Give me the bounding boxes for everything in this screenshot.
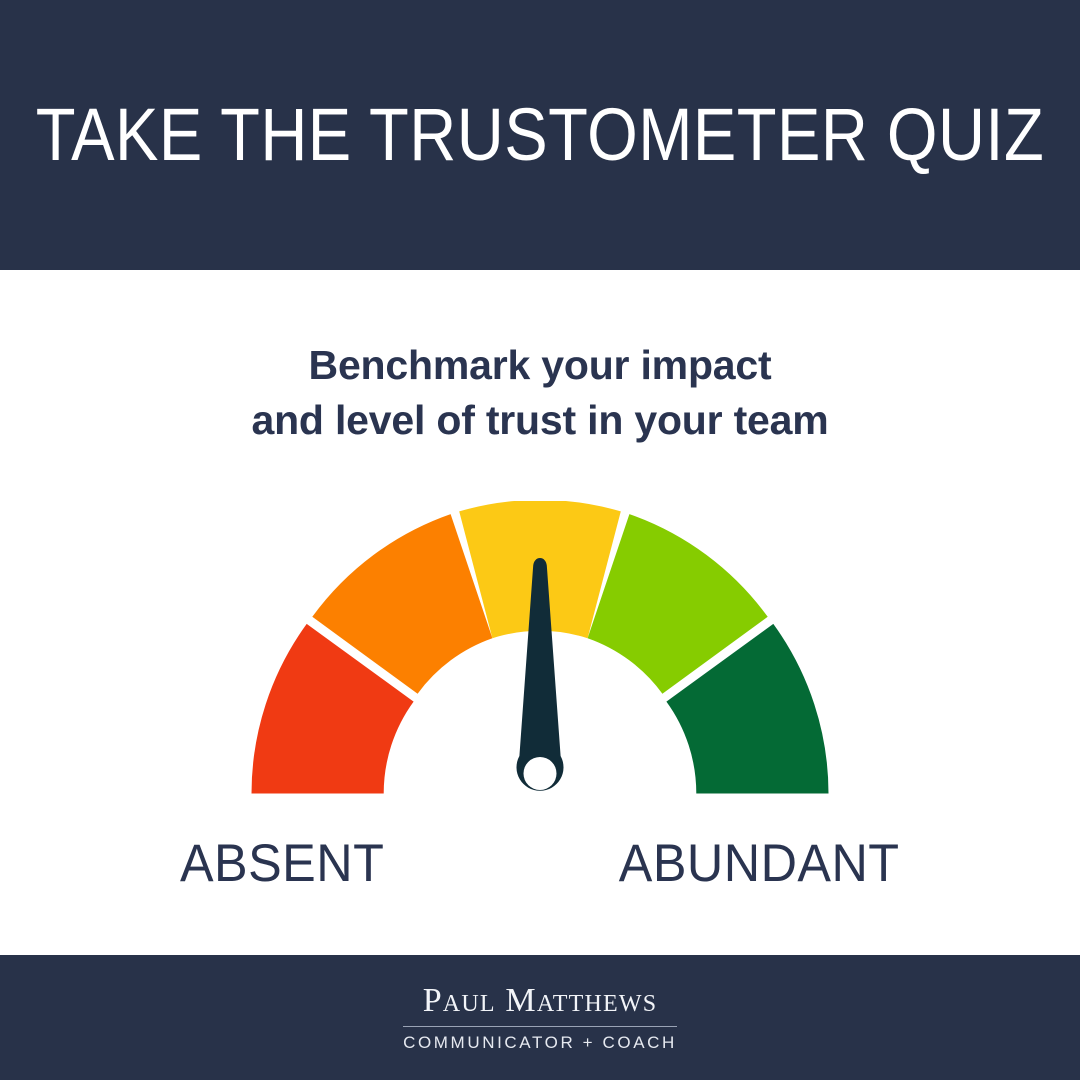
header-banner: TAKE THE TRUSTOMETER QUIZ [0,0,1080,270]
logo-divider [403,1026,677,1027]
poster: TAKE THE TRUSTOMETER QUIZ Benchmark your… [0,0,1080,1080]
subtitle-line-1: Benchmark your impact [251,338,828,393]
gauge-label-absent: ABSENT [180,833,384,894]
subtitle-line-2: and level of trust in your team [251,393,828,448]
footer-banner: Paul Matthews COMMUNICATOR + COACH [0,955,1080,1080]
logo-name: Paul Matthews [403,984,677,1018]
page-title: TAKE THE TRUSTOMETER QUIZ [36,98,1044,172]
gauge-label-abundant: ABUNDANT [619,833,900,894]
brand-logo: Paul Matthews COMMUNICATOR + COACH [403,984,677,1051]
needle-hub-hole [524,757,557,790]
gauge-label-row: ABSENT ABUNDANT [180,833,900,894]
logo-tagline: COMMUNICATOR + COACH [403,1034,677,1051]
trust-gauge [240,501,840,811]
main-content: Benchmark your impact and level of trust… [0,270,1080,955]
gauge-svg [240,501,840,811]
subtitle: Benchmark your impact and level of trust… [251,338,828,449]
